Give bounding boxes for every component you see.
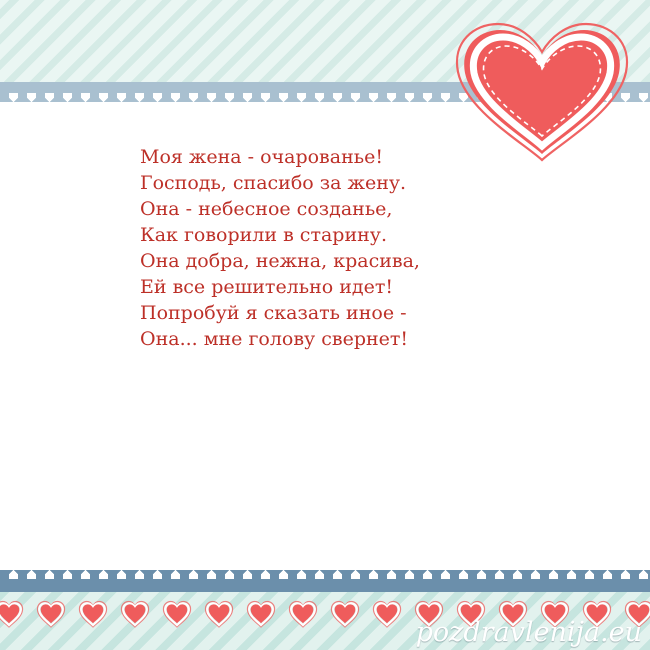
mini-heart-icon xyxy=(288,600,318,630)
mini-heart-icon xyxy=(204,600,234,630)
poem-line: Она добра, нежна, красива, xyxy=(140,248,560,274)
mini-heart-icon xyxy=(0,600,24,630)
mini-heart-icon xyxy=(162,600,192,630)
poem-line: Ей все решительно идет! xyxy=(140,274,560,300)
watermark-text: pozdravlenija.eu xyxy=(416,617,642,648)
greeting-card: Моя жена - очарованье! Господь, спасибо … xyxy=(0,0,650,650)
mini-heart-icon xyxy=(372,600,402,630)
mini-heart-icon xyxy=(36,600,66,630)
poem-line: Она - небесное созданье, xyxy=(140,196,560,222)
mini-heart-icon xyxy=(330,600,360,630)
poem-line: Как говорили в старину. xyxy=(140,222,560,248)
mini-heart-icon xyxy=(246,600,276,630)
poem-line: Она... мне голову свернет! xyxy=(140,326,560,352)
mini-heart-icon xyxy=(78,600,108,630)
poem-line: Попробуй я сказать иное - xyxy=(140,300,560,326)
bottom-zigzag-edge xyxy=(0,570,650,579)
bottom-blue-band xyxy=(0,579,650,592)
poem-line: Моя жена - очарованье! xyxy=(140,144,560,170)
mini-heart-icon xyxy=(120,600,150,630)
poem-line: Господь, спасибо за жену. xyxy=(140,170,560,196)
poem-text: Моя жена - очарованье! Господь, спасибо … xyxy=(140,144,560,352)
